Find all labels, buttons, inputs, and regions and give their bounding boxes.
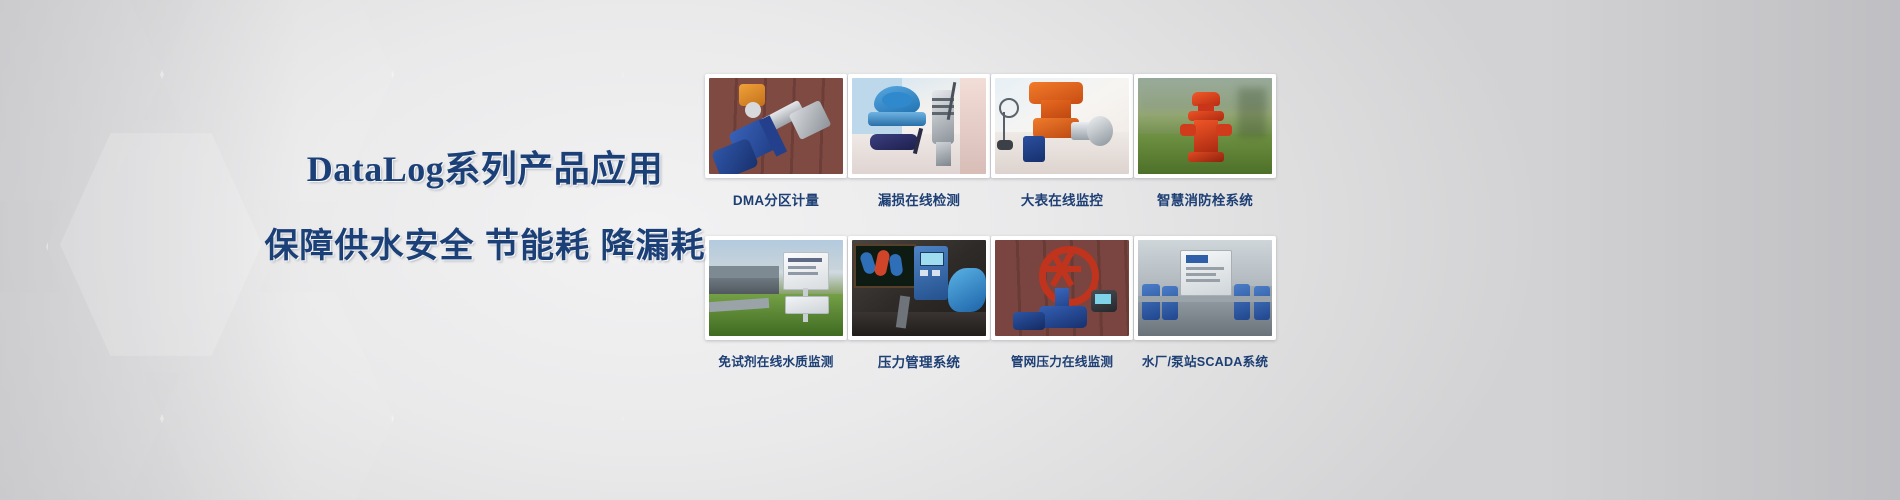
product-thumbnail[interactable] [705,236,847,340]
product-thumbnail[interactable] [991,74,1133,178]
product-card-grid: DMA分区计量 [705,74,1276,371]
product-card-reagent-free-water-quality[interactable]: 免试剂在线水质监测 [705,236,847,371]
product-card-label: 水厂/泵站SCADA系统 [1134,351,1276,370]
product-thumbnail[interactable] [848,74,990,178]
leak-detection-sensor-photo [852,78,986,174]
product-card-label: DMA分区计量 [705,189,847,209]
product-card-large-meter-monitoring[interactable]: 大表在线监控 [991,74,1133,209]
product-application-banner: DataLog系列产品应用 保障供水安全 节能耗 降漏耗 DMA分区计量 [0,0,1900,500]
product-thumbnail[interactable] [1134,236,1276,340]
water-quality-monitoring-station-photo [709,240,843,336]
headline-line-1: DataLog系列产品应用 [250,140,720,192]
product-card-leak-detection[interactable]: 漏损在线检测 [848,74,990,209]
pump-station-scada-photo [1138,240,1272,336]
product-card-dma-metering[interactable]: DMA分区计量 [705,74,847,209]
pipe-network-pressure-valve-photo [995,240,1129,336]
red-fire-hydrant-photo [1138,78,1272,174]
product-card-label: 漏损在线检测 [848,189,990,209]
product-card-label: 压力管理系统 [848,351,990,371]
large-water-meter-photo [995,78,1129,174]
product-card-pipe-network-pressure[interactable]: 管网压力在线监测 [991,236,1133,371]
pressure-management-cabinet-photo [852,240,986,336]
product-thumbnail[interactable] [991,236,1133,340]
product-card-smart-hydrant[interactable]: 智慧消防栓系统 [1134,74,1276,209]
product-card-label: 管网压力在线监测 [991,351,1133,370]
product-card-label: 免试剂在线水质监测 [705,351,847,370]
product-card-label: 大表在线监控 [991,189,1133,209]
product-thumbnail[interactable] [705,74,847,178]
product-card-scada-system[interactable]: 水厂/泵站SCADA系统 [1134,236,1276,371]
product-thumbnail[interactable] [848,236,990,340]
product-thumbnail[interactable] [1134,74,1276,178]
right-shadow-gradient [1540,0,1900,500]
headline-block: DataLog系列产品应用 保障供水安全 节能耗 降漏耗 [250,140,720,267]
headline-line-2: 保障供水安全 节能耗 降漏耗 [250,218,720,267]
product-card-pressure-management[interactable]: 压力管理系统 [848,236,990,371]
product-card-label: 智慧消防栓系统 [1134,189,1276,209]
blue-valve-on-brick-photo [709,78,843,174]
